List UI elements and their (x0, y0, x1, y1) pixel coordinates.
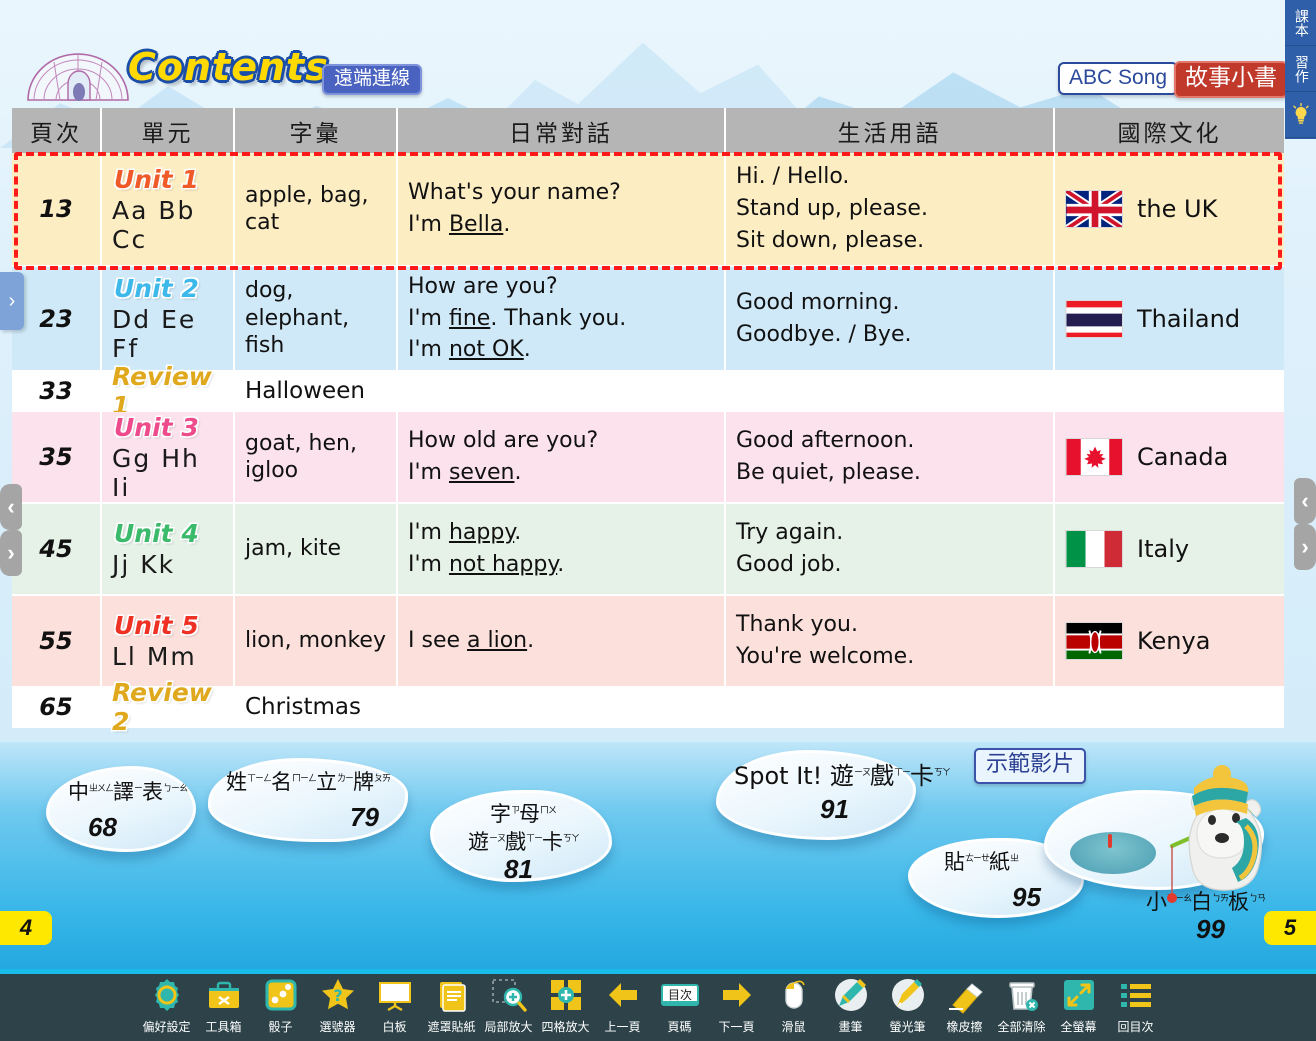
toolbar-item-label: 四格放大 (541, 1018, 589, 1035)
dialog-line: I see a lion. (408, 625, 534, 657)
floe-page-number: 68 (88, 812, 117, 843)
cell-culture: Canada (1055, 412, 1284, 504)
mask-sticker-icon (432, 975, 472, 1015)
toolbar-arrow-left-button[interactable]: 上一頁 (594, 975, 651, 1035)
cell-empty (1055, 372, 1284, 412)
floe-item[interactable]: 姓ㄒㄧㄥ名ㄇㄧㄥ立ㄌㄧ牌ㄆㄞ 79 (208, 758, 408, 870)
cell-dialog: How old are you?I'm seven. (398, 412, 726, 504)
toolbar-pen-button[interactable]: 畫筆 (822, 975, 879, 1035)
abc-song-button[interactable]: ABC Song (1058, 62, 1178, 95)
cell-vocabulary: dog, elephant, fish (235, 267, 398, 372)
cell-vocabulary: goat, hen, igloo (235, 412, 398, 504)
cell-culture: Italy (1055, 504, 1284, 596)
cell-page: 35 (12, 412, 102, 504)
cell-empty (1055, 688, 1284, 728)
cell-page: 45 (12, 504, 102, 596)
column-header-daily-dialog: 日常對話 (398, 108, 726, 153)
cell-dialog: I see a lion. (398, 596, 726, 688)
floe-item[interactable]: 中ㄓㄨㄥ譯ㄧ表ㄅㄧㄠ 68 (46, 766, 196, 878)
unit-letters: Jj Kk (112, 550, 175, 579)
nav-prev-right-icon[interactable]: ‹ (1294, 478, 1316, 524)
cell-culture: Kenya (1055, 596, 1284, 688)
phrase-line: You're welcome. (736, 641, 914, 673)
column-header-page: 頁次 (12, 108, 102, 153)
cell-vocabulary: lion, monkey (235, 596, 398, 688)
toolbar-dice-button[interactable]: 骰子 (252, 975, 309, 1035)
mouse-icon (774, 975, 814, 1015)
cell-page: 13 (12, 153, 102, 267)
flag-kenya-icon (1065, 622, 1123, 660)
country-name: Canada (1137, 443, 1228, 471)
phrase-line: Goodbye. / Bye. (736, 319, 911, 351)
dialog-line: I'm fine. Thank you. (408, 303, 626, 335)
dialog-line: I'm Bella. (408, 209, 510, 241)
igloo-illustration (24, 22, 132, 106)
cell-unit: Unit 4Jj Kk (102, 504, 235, 596)
flag-thailand-icon (1065, 300, 1123, 338)
arrow-left-icon (603, 975, 643, 1015)
toolbar-zoom-region-button[interactable]: 局部放大 (480, 975, 537, 1035)
toolbar-page-number-button[interactable]: 目次頁碼 (651, 975, 708, 1035)
toolbar-item-label: 全螢幕 (1060, 1018, 1096, 1035)
floe-page-number: 79 (350, 802, 379, 833)
cell-dialog: I'm happy.I'm not happy. (398, 504, 726, 596)
page-badge-right: 5 (1264, 911, 1316, 945)
whiteboard-icon (375, 975, 415, 1015)
dialog-line: I'm happy. (408, 517, 521, 549)
column-header-daily-phrases: 生活用語 (726, 108, 1055, 153)
toolbar-item-label: 回目次 (1117, 1018, 1153, 1035)
table-row[interactable]: 33Review 1Halloween (12, 372, 1284, 412)
phrase-line: Be quiet, please. (736, 457, 921, 489)
unit-name: Unit 3 (112, 413, 199, 442)
toolbar-item-label: 螢光筆 (889, 1018, 925, 1035)
svg-text:目次: 目次 (667, 988, 691, 1002)
toolbar-items: 偏好設定工具箱骰子?選號器白板遮罩貼紙局部放大四格放大上一頁目次頁碼下一頁滑鼠畫… (138, 975, 1164, 1035)
column-header-culture: 國際文化 (1055, 108, 1284, 153)
cell-review-topic: Christmas (235, 688, 398, 728)
floe-label: 貼ㄊㄧㄝ紙ㄓ (944, 846, 1018, 876)
column-header-unit: 單元 (102, 108, 235, 153)
table-row[interactable]: 35Unit 3Gg Hh Iigoat, hen, iglooHow old … (12, 412, 1284, 504)
toolbar-item-label: 全部清除 (997, 1018, 1045, 1035)
toolbar-eraser-button[interactable]: 橡皮擦 (936, 975, 993, 1035)
page-root: Contents 遠端連線 ABC Song 故事小書 頁次 單元 字彙 日常對… (0, 0, 1316, 1041)
fullscreen-icon (1059, 975, 1099, 1015)
dialog-line: How are you? (408, 271, 558, 303)
phrase-line: Good job. (736, 549, 841, 581)
cell-phrases: Good afternoon.Be quiet, please. (726, 412, 1055, 504)
cell-empty (726, 688, 1055, 728)
toolbar-trash-clear-button[interactable]: 全部清除 (993, 975, 1050, 1035)
nav-next-left-icon[interactable]: › (0, 530, 22, 576)
cell-review-topic: Halloween (235, 372, 398, 412)
zoom-region-icon (489, 975, 529, 1015)
floe-label-secondary: 遊ㄧㄡ戲ㄒㄧ卡ㄎㄚ (468, 826, 579, 856)
toolbar-highlighter-button[interactable]: 螢光筆 (879, 975, 936, 1035)
toolbar-gear-button[interactable]: 偏好設定 (138, 975, 195, 1035)
cell-vocabulary: apple, bag, cat (235, 153, 398, 267)
toolbar-item-label: 畫筆 (838, 1018, 862, 1035)
cell-unit: Unit 5Ll Mm (102, 596, 235, 688)
floe-label: 姓ㄒㄧㄥ名ㄇㄧㄥ立ㄌㄧ牌ㄆㄞ (226, 766, 390, 796)
toolbar-arrow-right-button[interactable]: 下一頁 (708, 975, 765, 1035)
cell-phrases: Hi. / Hello.Stand up, please.Sit down, p… (726, 153, 1055, 267)
toolbar-item-label: 局部放大 (484, 1018, 532, 1035)
contents-list-icon (1116, 975, 1156, 1015)
unit-letters: Dd Ee Ff (112, 305, 223, 363)
nav-next-right-icon[interactable]: › (1294, 524, 1316, 570)
cell-empty (726, 372, 1055, 412)
toolbar-contents-list-button[interactable]: 回目次 (1107, 975, 1164, 1035)
trash-clear-icon (1002, 975, 1042, 1015)
cell-dialog: How are you?I'm fine. Thank you.I'm not … (398, 267, 726, 372)
table-row[interactable]: 55Unit 5Ll Mmlion, monkeyI see a lion.Th… (12, 596, 1284, 688)
toolbar-four-grid-zoom-button[interactable]: 四格放大 (537, 975, 594, 1035)
floe-page-number: 81 (504, 854, 533, 885)
toolbar-item-label: 橡皮擦 (946, 1018, 982, 1035)
right-sidebar: 課本 習作 (1285, 0, 1316, 139)
toolbar-item-label: 選號器 (319, 1018, 355, 1035)
dialog-line: I'm seven. (408, 457, 521, 489)
phrase-line: Thank you. (736, 609, 858, 641)
highlighter-icon (888, 975, 928, 1015)
toolbar-star-question-button[interactable]: ?選號器 (309, 975, 366, 1035)
column-header-vocabulary: 字彙 (235, 108, 398, 153)
dice-icon (261, 975, 301, 1015)
toolbar-item-label: 工具箱 (205, 1018, 241, 1035)
toolbar-item-label: 偏好設定 (142, 1018, 190, 1035)
unit-name: Unit 4 (112, 519, 199, 548)
bottom-toolbar: 偏好設定工具箱骰子?選號器白板遮罩貼紙局部放大四格放大上一頁目次頁碼下一頁滑鼠畫… (0, 969, 1316, 1041)
cell-vocabulary: jam, kite (235, 504, 398, 596)
unit-letters: Aa Bb Cc (112, 196, 223, 254)
floe-item[interactable]: 字ㄗ母ㄇㄨ 遊ㄧㄡ戲ㄒㄧ卡ㄎㄚ 81 (430, 790, 612, 912)
toolbar-whiteboard-button[interactable]: 白板 (366, 975, 423, 1035)
toolbox-icon (204, 975, 244, 1015)
cell-dialog: What's your name?I'm Bella. (398, 153, 726, 267)
floe-label: Spot It! 遊ㄧㄡ戲ㄒㄧ卡ㄎㄚ (734, 756, 950, 791)
table-row[interactable]: 13Unit 1Aa Bb Ccapple, bag, catWhat's yo… (12, 153, 1284, 267)
cell-phrases: Good morning.Goodbye. / Bye. (726, 267, 1055, 372)
demo-video-button[interactable]: 示範影片 (974, 748, 1086, 784)
eraser-icon (945, 975, 985, 1015)
country-name: Italy (1137, 535, 1189, 563)
toolbar-item-label: 下一頁 (718, 1018, 754, 1035)
unit-name: Unit 2 (112, 274, 199, 303)
arrow-right-icon (717, 975, 757, 1015)
sidebar-item-textbook[interactable]: 課本 (1285, 0, 1316, 46)
floe-label: 字ㄗ母ㄇㄨ (490, 798, 556, 828)
floe-item[interactable]: Spot It! 遊ㄧㄡ戲ㄒㄧ卡ㄎㄚ 91 (716, 750, 916, 872)
unit-letters: Ll Mm (112, 642, 197, 671)
toolbar-item-label: 頁碼 (667, 1018, 691, 1035)
toolbar-accent-bar (0, 969, 1316, 974)
contents-table: 頁次 單元 字彙 日常對話 生活用語 國際文化 13Unit 1Aa Bb Cc… (12, 108, 1284, 728)
cell-culture: Thailand (1055, 267, 1284, 372)
table-row[interactable]: 65Review 2Christmas (12, 688, 1284, 728)
toolbar-item-label: 白板 (382, 1018, 406, 1035)
nav-prev-left-icon[interactable]: ‹ (0, 484, 22, 530)
dialog-line: What's your name? (408, 177, 621, 209)
sidebar-item-label: 習作 (1293, 55, 1308, 83)
toolbar-mask-sticker-button[interactable]: 遮罩貼紙 (423, 975, 480, 1035)
cell-page: 23 (12, 267, 102, 372)
sidebar-item-label: 課本 (1293, 9, 1308, 37)
four-grid-zoom-icon (546, 975, 586, 1015)
dialog-line: I'm not OK. (408, 334, 531, 366)
page-badge-left: 4 (0, 911, 52, 945)
phrase-line: Sit down, please. (736, 225, 924, 257)
cell-page: 65 (12, 688, 102, 728)
toolbar-fullscreen-button[interactable]: 全螢幕 (1050, 975, 1107, 1035)
toolbar-toolbox-button[interactable]: 工具箱 (195, 975, 252, 1035)
svg-text:?: ? (333, 986, 342, 1005)
toolbar-item-label: 上一頁 (604, 1018, 640, 1035)
story-book-button[interactable]: 故事小書 (1174, 61, 1288, 98)
cell-page: 33 (12, 372, 102, 412)
phrase-line: Good morning. (736, 287, 899, 319)
cell-phrases: Try again.Good job. (726, 504, 1055, 596)
remote-connect-button[interactable]: 遠端連線 (322, 64, 422, 95)
polar-bear-illustration (1150, 746, 1280, 936)
phrase-line: Stand up, please. (736, 193, 928, 225)
star-question-icon: ? (318, 975, 358, 1015)
floe-page-number: 91 (820, 794, 849, 825)
unit-letters: Gg Hh Ii (112, 444, 223, 502)
phrase-line: Try again. (736, 517, 843, 549)
phrase-line: Good afternoon. (736, 425, 914, 457)
toolbar-item-label: 遮罩貼紙 (427, 1018, 475, 1035)
cell-unit: Unit 3Gg Hh Ii (102, 412, 235, 504)
cell-culture: the UK (1055, 153, 1284, 267)
sidebar-item-workbook[interactable]: 習作 (1285, 46, 1316, 92)
fishing-hole (1070, 832, 1156, 874)
cell-review-label: Review 2 (102, 688, 235, 728)
toolbar-item-label: 滑鼠 (781, 1018, 805, 1035)
fishing-float (1108, 834, 1112, 848)
floe-page-number: 95 (1012, 882, 1041, 913)
dialog-line: I'm not happy. (408, 549, 564, 581)
lightbulb-icon (1291, 103, 1311, 127)
sidebar-item-lightbulb[interactable] (1285, 92, 1316, 138)
table-body: 13Unit 1Aa Bb Ccapple, bag, catWhat's yo… (12, 153, 1284, 728)
cell-phrases: Thank you.You're welcome. (726, 596, 1055, 688)
pen-icon (831, 975, 871, 1015)
table-row[interactable]: 23Unit 2Dd Ee Ffdog, elephant, fishHow a… (12, 267, 1284, 372)
cell-page: 55 (12, 596, 102, 688)
toolbar-mouse-button[interactable]: 滑鼠 (765, 975, 822, 1035)
dialog-line: How old are you? (408, 425, 598, 457)
page-number-icon: 目次 (660, 975, 700, 1015)
table-row[interactable]: 45Unit 4Jj Kkjam, kiteI'm happy.I'm not … (12, 504, 1284, 596)
cell-unit: Unit 2Dd Ee Ff (102, 267, 235, 372)
table-header-row: 頁次 單元 字彙 日常對話 生活用語 國際文化 (12, 108, 1284, 153)
cell-empty (398, 688, 726, 728)
gear-icon (147, 975, 187, 1015)
page-title: Contents (128, 44, 308, 90)
cell-review-label: Review 1 (102, 372, 235, 412)
flag-italy-icon (1065, 530, 1123, 568)
country-name: Thailand (1137, 305, 1240, 333)
toolbar-item-label: 骰子 (268, 1018, 292, 1035)
left-panel-expand-tab[interactable]: › (0, 272, 24, 330)
unit-name: Unit 1 (112, 165, 199, 194)
phrase-line: Hi. / Hello. (736, 161, 849, 193)
country-name: the UK (1137, 195, 1217, 223)
cell-empty (398, 372, 726, 412)
flag-canada-icon (1065, 438, 1123, 476)
cell-unit: Unit 1Aa Bb Cc (102, 153, 235, 267)
flag-uk-icon (1065, 190, 1123, 228)
unit-name: Unit 5 (112, 611, 199, 640)
floe-label: 中ㄓㄨㄥ譯ㄧ表ㄅㄧㄠ (68, 776, 187, 806)
country-name: Kenya (1137, 627, 1210, 655)
